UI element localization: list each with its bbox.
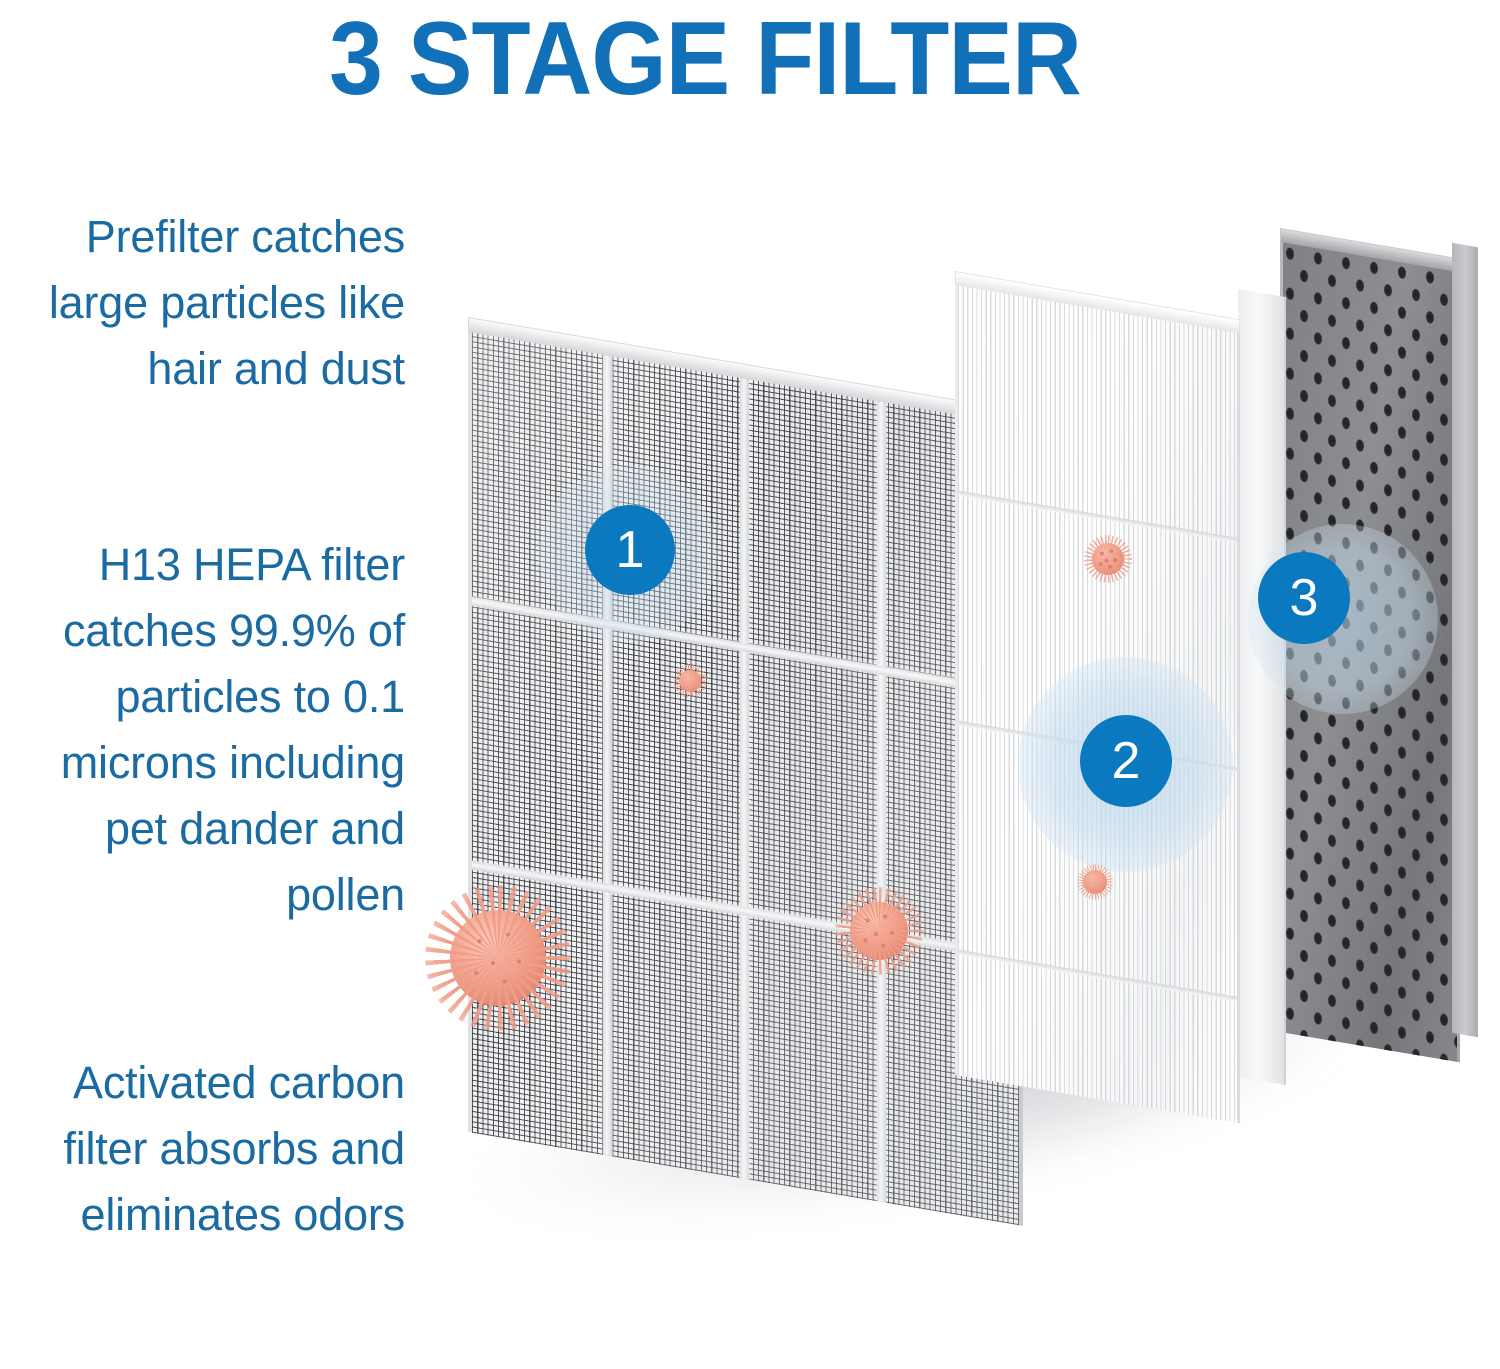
callout-text-prefilter: Prefilter catches large particles like h…	[0, 204, 405, 402]
hepa-band-divider	[955, 948, 1240, 1002]
badge-number-label: 3	[1258, 552, 1350, 644]
badge-number-label: 2	[1080, 715, 1172, 807]
filter-stack-illustration: 1 2 3	[430, 290, 1450, 1290]
prefilter-rib-vertical	[877, 385, 886, 1219]
page-title: 3 STAGE FILTER	[49, 4, 1360, 114]
prefilter-rib-vertical	[603, 339, 612, 1173]
pollen-pits	[1094, 545, 1122, 573]
pollen-pits	[456, 916, 541, 1001]
prefilter-mesh-panel	[468, 332, 1023, 1226]
pollen-hepa-lower-icon	[1083, 870, 1107, 894]
callout-text-hepa: H13 HEPA filter catches 99.9% of particl…	[0, 532, 405, 928]
pollen-spikes	[673, 664, 706, 697]
badge-number-label: 1	[585, 505, 675, 595]
pollen-pits	[853, 905, 904, 956]
hepa-band-divider	[955, 490, 1240, 544]
prefilter-panel-face	[468, 332, 1023, 1226]
prefilter-rib-vertical	[740, 362, 749, 1196]
callout-text-carbon: Activated carbon filter absorbs and elim…	[0, 1050, 405, 1248]
pollen-large-icon	[450, 910, 546, 1006]
pollen-hepa-upper-icon	[1092, 543, 1124, 575]
pollen-mesh-small-icon	[679, 670, 701, 692]
carbon-panel-frame-edge	[1452, 243, 1478, 1037]
pollen-medium-icon	[850, 902, 908, 960]
